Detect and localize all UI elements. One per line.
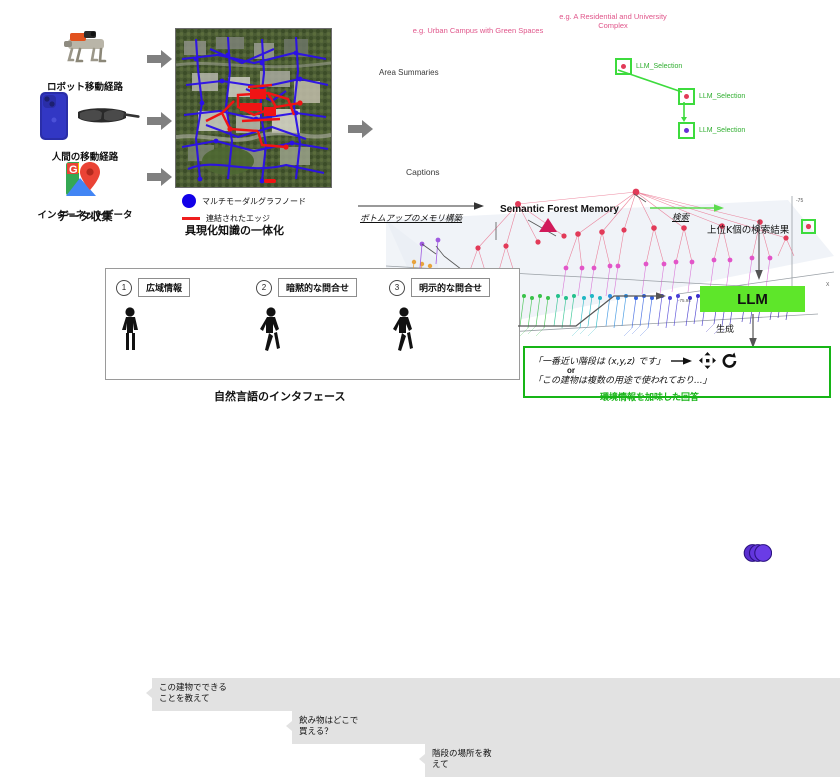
satellite-graph-overlay (176, 29, 331, 187)
map-panel-caption: 具現化知識の一体化 (185, 222, 284, 238)
topk-label: 上位K個の検索結果 (707, 222, 789, 236)
interface-item-1: 1 広域情報 (116, 278, 190, 297)
interface-item-1-bubble-text: この建物でできることを教えて (159, 683, 235, 706)
interface-caption: 自然言語のインタフェース (214, 388, 345, 404)
walking-person-icon (391, 306, 417, 352)
graph-map-panel (175, 28, 332, 188)
interface-item-3: 3 明示的な問合せ (389, 278, 490, 297)
llm-label: LLM (737, 291, 768, 308)
arrow-robot-to-map (147, 50, 173, 68)
interface-item-3-bubble-text: 階段の場所を教えて (432, 749, 492, 772)
source-robot: ロボット移動経路 (10, 28, 160, 86)
answer-line-2: 「この建物は複数の用途で使われており...」 (533, 373, 821, 386)
interface-item-3-bubble: 階段の場所を教えて (425, 744, 840, 777)
generate-label: 生成 (716, 322, 734, 335)
semantic-forest-memory-title: Semantic Forest Memory (500, 204, 619, 215)
interface-item-2-bubble-text: 飲み物はどこで買える？ (299, 716, 365, 739)
move-arrows-icon (699, 352, 716, 369)
llm-selection-2-label: LLM_Selection (699, 93, 745, 100)
answer-caption: 環境情報を加味した回答 (600, 390, 699, 403)
answer-line-1: 「一番近い階段は (x,y,z) です」 (533, 354, 665, 367)
arrow-internet-to-map (147, 168, 173, 186)
interface-item-3-title: 明示的な問合せ (411, 278, 490, 297)
urban-campus-note: e.g. Urban Campus with Green Spaces (408, 26, 548, 35)
source-human: 人間の移動経路 (10, 90, 160, 162)
interface-item-3-number: 3 (389, 280, 405, 296)
google-maps-icon: G (10, 158, 160, 200)
legend-node-row: マルチモーダルグラフノード (182, 194, 306, 208)
bottom-up-label: ボトムアップのメモリ構築 (360, 212, 462, 224)
rotate-icon (722, 352, 738, 369)
interface-item-2-number: 2 (256, 280, 272, 296)
walking-person-icon (258, 306, 284, 352)
arrow-human-to-map (147, 112, 173, 130)
residential-note: e.g. A Residential and University Comple… (548, 12, 678, 30)
sources-title: データ収集 (10, 208, 160, 224)
topk-to-llm-connector (752, 220, 766, 284)
llm-to-answer-connector (746, 314, 760, 350)
interface-item-1-number: 1 (116, 280, 132, 296)
interface-item-2-title: 暗黙的な問合せ (278, 278, 357, 297)
robot-dog-icon (10, 28, 160, 72)
svg-text:-75.94: -75.94 (678, 298, 691, 303)
captions-note: Captions (406, 167, 440, 177)
llm-box: LLM (700, 286, 805, 312)
bottom-up-arrow (358, 200, 488, 212)
phone-glasses-icon (10, 90, 160, 142)
standing-person-icon (118, 306, 144, 352)
interface-item-2-bubble: 飲み物はどこで買える？ (292, 711, 840, 744)
map-legend: マルチモーダルグラフノード 連結されたエッジ (182, 194, 306, 224)
memory-triangle-icon (539, 218, 557, 232)
interface-to-llm-connector (518, 286, 678, 330)
arrow-right-icon (671, 356, 693, 366)
red-line-icon (182, 217, 200, 220)
arrow-map-to-forest (348, 120, 374, 138)
blue-dot-icon (182, 194, 196, 208)
svg-text:G: G (69, 164, 78, 176)
llm-selection-3-label: LLM_Selection (699, 127, 745, 134)
interface-item-1-title: 広域情報 (138, 278, 190, 297)
topk-discs-icon (742, 543, 772, 563)
svg-text:X: X (826, 282, 830, 288)
retrieve-arrow (650, 202, 730, 214)
llm-selection-connectors (612, 60, 692, 130)
legend-node-label: マルチモーダルグラフノード (202, 196, 306, 207)
interface-item-1-bubble: この建物でできることを教えて (152, 678, 840, 711)
area-summaries-note: Area Summaries (379, 68, 439, 77)
interface-item-2: 2 暗黙的な問合せ (256, 278, 357, 297)
retrieve-label: 検索 (672, 211, 689, 223)
svg-text:-75: -75 (796, 198, 803, 204)
